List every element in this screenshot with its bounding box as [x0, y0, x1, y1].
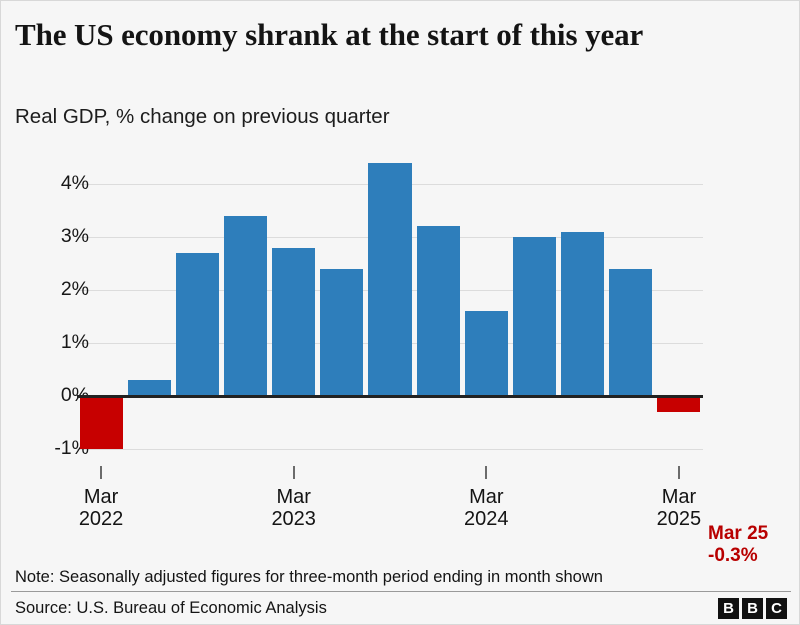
bbc-logo: BBC	[718, 598, 787, 619]
x-axis-label-month: Mar	[234, 486, 354, 508]
chart-note: Note: Seasonally adjusted figures for th…	[15, 568, 787, 587]
x-axis-label-month: Mar	[41, 486, 161, 508]
footer-divider	[11, 591, 791, 592]
x-axis-label-month: Mar	[619, 486, 739, 508]
bar[interactable]	[609, 269, 652, 396]
chart-subtitle: Real GDP, % change on previous quarter	[15, 105, 775, 130]
y-axis-label: 4%	[9, 174, 89, 194]
callout-value: -0.3%	[708, 545, 768, 567]
bar[interactable]	[224, 216, 267, 396]
x-axis-label: Mar2023	[234, 486, 354, 531]
bar[interactable]	[128, 380, 171, 396]
bar[interactable]	[657, 396, 700, 412]
bar[interactable]	[513, 237, 556, 396]
x-axis-tick	[293, 466, 295, 479]
bar[interactable]	[320, 269, 363, 396]
bar[interactable]	[80, 396, 123, 449]
page-title: The US economy shrank at the start of th…	[15, 17, 775, 53]
bbc-logo-block-3: C	[766, 598, 787, 619]
bar[interactable]	[368, 163, 411, 396]
x-axis-label: Mar2024	[426, 486, 546, 531]
y-axis-label: 1%	[9, 333, 89, 353]
x-axis-tick	[678, 466, 680, 479]
bar-chart-plot: -1%0%1%2%3%4%Mar2022Mar2023Mar2024Mar202…	[1, 141, 800, 556]
chart-source: Source: U.S. Bureau of Economic Analysis	[15, 599, 327, 618]
y-axis-label: 2%	[9, 280, 89, 300]
callout-label: Mar 25	[708, 523, 768, 545]
y-axis-label: -1%	[9, 439, 89, 459]
y-axis-label: 3%	[9, 227, 89, 247]
bar[interactable]	[465, 311, 508, 396]
x-axis-tick	[485, 466, 487, 479]
x-axis-label-year: 2022	[41, 508, 161, 530]
x-axis-label: Mar2022	[41, 486, 161, 531]
chart-card: The US economy shrank at the start of th…	[0, 0, 800, 625]
x-axis-label-month: Mar	[426, 486, 546, 508]
bbc-logo-block-2: B	[742, 598, 763, 619]
bar[interactable]	[272, 248, 315, 396]
gridline	[77, 449, 703, 450]
x-axis-label-year: 2024	[426, 508, 546, 530]
bar[interactable]	[561, 232, 604, 396]
latest-value-callout: Mar 25-0.3%	[708, 523, 768, 566]
x-axis-tick	[100, 466, 102, 479]
zero-axis-line	[77, 395, 703, 398]
bar[interactable]	[417, 226, 460, 396]
bar[interactable]	[176, 253, 219, 396]
bbc-logo-block-1: B	[718, 598, 739, 619]
x-axis-label-year: 2023	[234, 508, 354, 530]
